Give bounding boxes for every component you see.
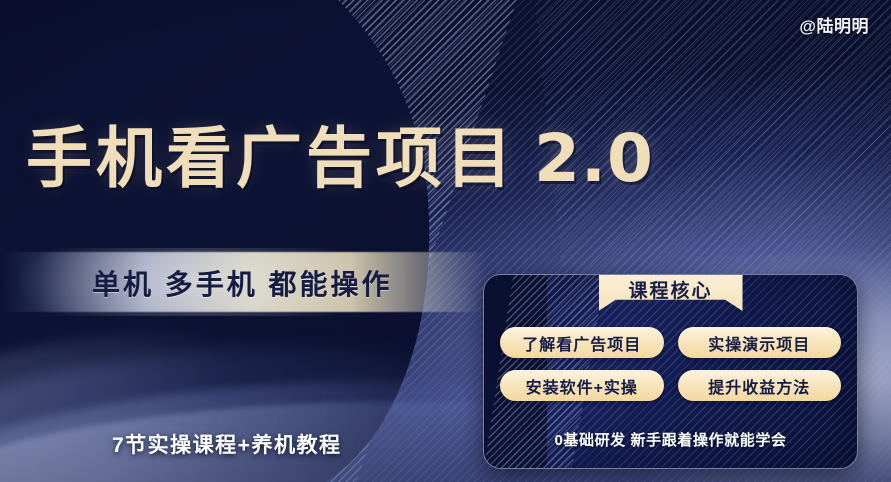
feature-pill[interactable]: 了解看广告项目 — [500, 327, 664, 358]
page-title-main: 手机看广告项目 — [26, 120, 516, 197]
course-count-note: 7节实操课程+养机教程 — [112, 429, 341, 459]
page-title: 手机看广告项目2.0 — [26, 126, 654, 192]
promo-poster: @陆明明 手机看广告项目2.0 单机 多手机 都能操作 7节实操课程+养机教程 … — [0, 0, 891, 482]
feature-pill[interactable]: 安装软件+实操 — [500, 370, 664, 401]
feature-pill[interactable]: 提升收益方法 — [678, 370, 842, 401]
feature-pill[interactable]: 实操演示项目 — [678, 327, 842, 358]
course-core-card: 课程核心 了解看广告项目 实操演示项目 安装软件+实操 提升收益方法 0基础研发… — [483, 274, 858, 469]
page-subtitle: 单机 多手机 都能操作 — [92, 263, 393, 303]
card-banner-title: 课程核心 — [598, 274, 742, 311]
page-title-version: 2.0 — [534, 120, 654, 197]
author-handle: @陆明明 — [799, 12, 869, 37]
card-footer-note: 0基础研发 新手跟着操作就能学会 — [484, 429, 857, 450]
card-pill-grid: 了解看广告项目 实操演示项目 安装软件+实操 提升收益方法 — [500, 327, 841, 401]
